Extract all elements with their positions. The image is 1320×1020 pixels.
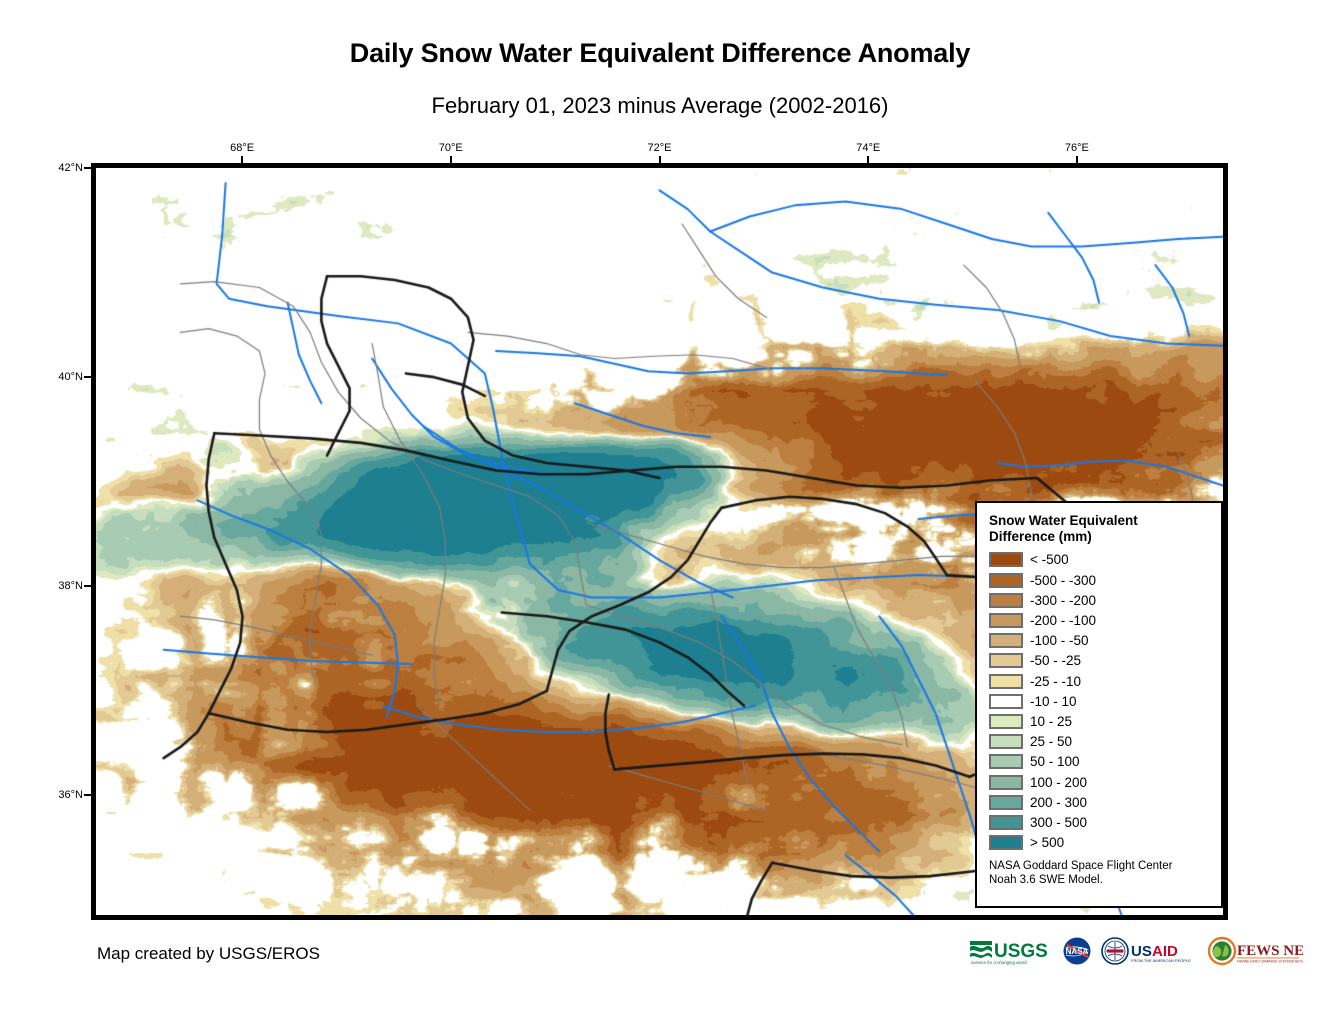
legend-title: Snow Water Equivalent Difference (mm) <box>989 513 1211 545</box>
page-subtitle: February 01, 2023 minus Average (2002-20… <box>0 93 1320 119</box>
legend-swatch <box>989 754 1023 769</box>
legend-swatch <box>989 815 1023 830</box>
longitude-label: 72°E <box>648 142 672 154</box>
longitude-label: 74°E <box>856 142 880 154</box>
legend-swatch <box>989 633 1023 648</box>
svg-text:FEWS NET: FEWS NET <box>1237 943 1303 959</box>
legend-class-list: < -500-500 - -300-300 - -200-200 - -100-… <box>989 550 1211 853</box>
legend-swatch <box>989 734 1023 749</box>
legend-row: 300 - 500 <box>989 812 1211 832</box>
longitude-label: 68°E <box>230 142 254 154</box>
svg-text:FAMINE EARLY WARNING SYSTEMS N: FAMINE EARLY WARNING SYSTEMS NETWORK <box>1237 960 1303 964</box>
legend-swatch <box>989 593 1023 608</box>
legend-row: -200 - -100 <box>989 610 1211 630</box>
legend-row: 200 - 300 <box>989 792 1211 812</box>
map-credit: Map created by USGS/EROS <box>97 944 320 964</box>
legend-row: -500 - -300 <box>989 570 1211 590</box>
legend-label: 200 - 300 <box>1030 795 1087 810</box>
svg-text:FROM THE AMERICAN PEOPLE: FROM THE AMERICAN PEOPLE <box>1131 958 1191 963</box>
longitude-label: 70°E <box>439 142 463 154</box>
legend-label: 25 - 50 <box>1030 734 1072 749</box>
svg-text:science for a changing world: science for a changing world <box>971 960 1027 965</box>
map-legend: Snow Water Equivalent Difference (mm) < … <box>975 501 1223 908</box>
legend-row: 50 - 100 <box>989 752 1211 772</box>
legend-swatch <box>989 613 1023 628</box>
legend-label: -25 - -10 <box>1030 674 1081 689</box>
fewsnet-logo: FEWS NET FAMINE EARLY WARNING SYSTEMS NE… <box>1207 936 1303 966</box>
svg-text:NASA: NASA <box>1066 947 1089 956</box>
usaid-logo: US AID FROM THE AMERICAN PEOPLE <box>1100 936 1200 966</box>
legend-label: 50 - 100 <box>1030 754 1080 769</box>
legend-row: 100 - 200 <box>989 772 1211 792</box>
legend-row: -300 - -200 <box>989 590 1211 610</box>
legend-label: -300 - -200 <box>1030 593 1096 608</box>
latitude-label: 38°N <box>55 580 83 592</box>
legend-label: -100 - -50 <box>1030 633 1089 648</box>
latitude-label: 40°N <box>55 371 83 383</box>
legend-swatch <box>989 795 1023 810</box>
legend-label: < -500 <box>1030 552 1069 567</box>
legend-label: -200 - -100 <box>1030 613 1096 628</box>
legend-swatch <box>989 694 1023 709</box>
legend-row: -50 - -25 <box>989 651 1211 671</box>
latitude-label: 36°N <box>55 789 83 801</box>
legend-label: 100 - 200 <box>1030 775 1087 790</box>
svg-text:USGS: USGS <box>994 941 1048 962</box>
latitude-label: 42°N <box>55 162 83 174</box>
nasa-logo: NASA <box>1061 936 1093 966</box>
legend-label: 10 - 25 <box>1030 714 1072 729</box>
legend-row: > 500 <box>989 832 1211 852</box>
legend-row: < -500 <box>989 550 1211 570</box>
legend-label: -10 - 10 <box>1030 694 1077 709</box>
legend-swatch <box>989 775 1023 790</box>
legend-swatch <box>989 653 1023 668</box>
legend-swatch <box>989 674 1023 689</box>
longitude-label: 76°E <box>1065 142 1089 154</box>
legend-swatch <box>989 573 1023 588</box>
page-title: Daily Snow Water Equivalent Difference A… <box>0 38 1320 69</box>
logo-bar: USGS science for a changing world NASA U… <box>968 934 1303 968</box>
legend-row: -10 - 10 <box>989 691 1211 711</box>
legend-swatch <box>989 835 1023 850</box>
legend-row: -100 - -50 <box>989 631 1211 651</box>
legend-label: -500 - -300 <box>1030 573 1096 588</box>
legend-source-note: NASA Goddard Space Flight Center Noah 3.… <box>989 859 1211 888</box>
legend-label: 300 - 500 <box>1030 815 1087 830</box>
legend-row: 25 - 50 <box>989 732 1211 752</box>
legend-row: -25 - -10 <box>989 671 1211 691</box>
usgs-logo: USGS science for a changing world <box>968 936 1054 966</box>
legend-row: 10 - 25 <box>989 711 1211 731</box>
legend-swatch <box>989 714 1023 729</box>
legend-swatch <box>989 552 1023 567</box>
legend-label: -50 - -25 <box>1030 653 1081 668</box>
legend-label: > 500 <box>1030 835 1064 850</box>
